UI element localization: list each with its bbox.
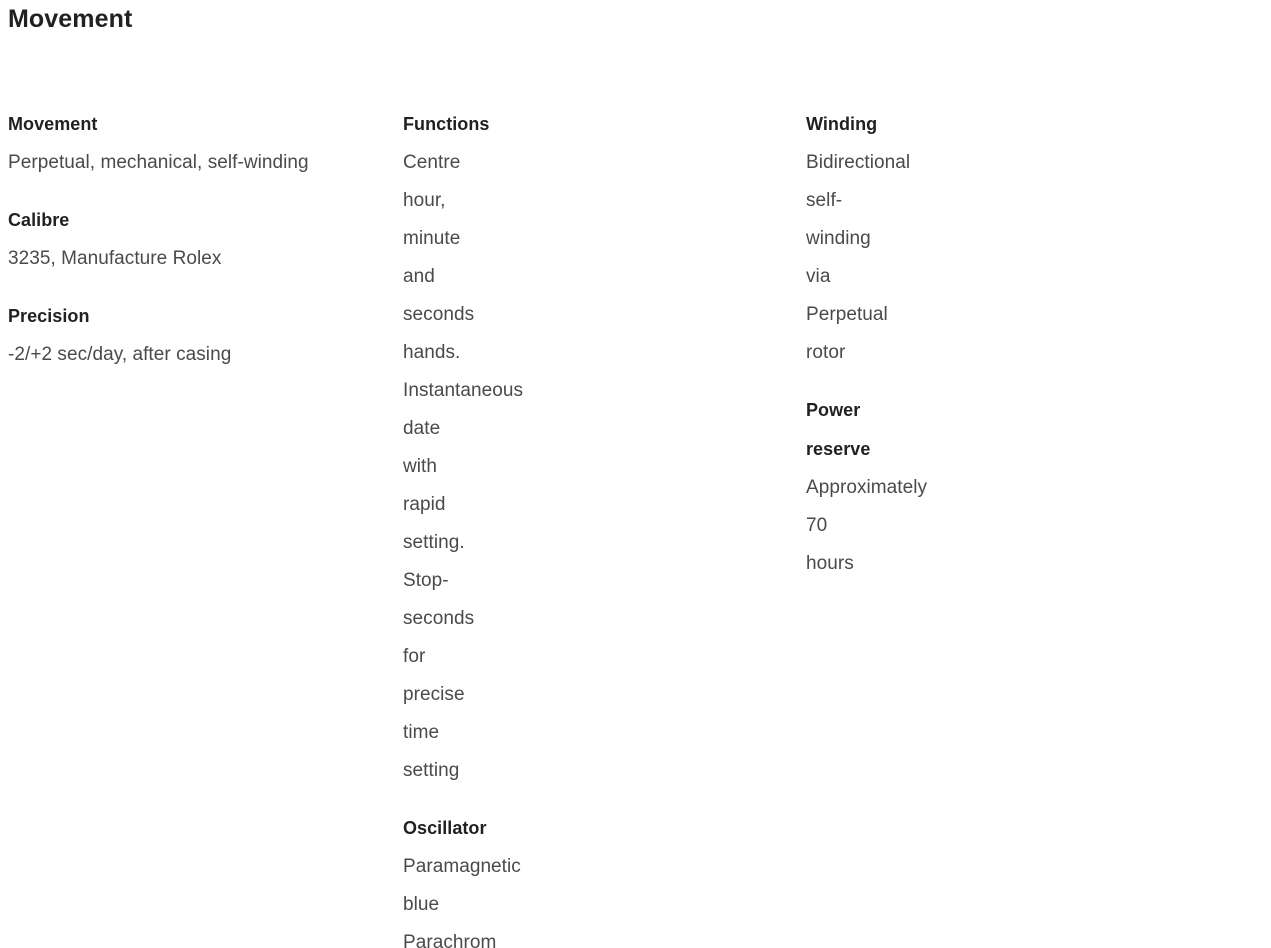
spec-columns-container: Movement Perpetual, mechanical, self-win… — [0, 105, 1271, 948]
page-title: Movement — [8, 2, 132, 36]
spec-column-winding: Winding Bidirectional self-winding via P… — [11, 105, 806, 583]
movement-specifications-section: Movement Movement Perpetual, mechanical,… — [0, 0, 1271, 474]
